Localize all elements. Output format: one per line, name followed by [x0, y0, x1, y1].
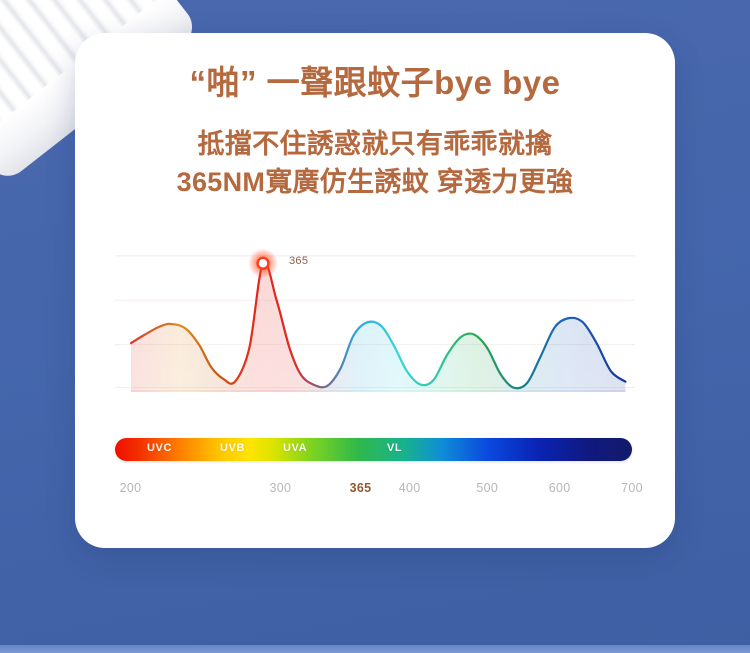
page-bottom-strip	[0, 645, 750, 653]
axis-tick-400: 400	[399, 481, 421, 495]
spectrum-color-bar: UVC UVB UVA VL	[115, 438, 632, 461]
chart-fade-overlay	[115, 240, 635, 390]
spectrum-chart: 365	[115, 240, 635, 410]
peak-dot	[259, 259, 267, 267]
axis-tick-365: 365	[350, 481, 372, 495]
headline-secondary-line2: 365NM寬廣仿生誘蚊 穿透力更強	[75, 163, 675, 201]
band-label-uvb: UVB	[220, 442, 245, 454]
headline-block: “啪” 一聲跟蚊子bye bye 抵擋不住誘惑就只有乖乖就擒 365NM寬廣仿生…	[75, 33, 675, 201]
promo-page: ⨯ ⏻ ◎ “啪” 一聲跟蚊子bye bye 抵擋不住誘惑就只有乖乖就擒 365…	[0, 0, 750, 653]
content-card: “啪” 一聲跟蚊子bye bye 抵擋不住誘惑就只有乖乖就擒 365NM寬廣仿生…	[75, 33, 675, 548]
peak-marker-365	[248, 248, 278, 278]
band-label-uva: UVA	[283, 442, 307, 454]
band-label-vl: VL	[387, 442, 402, 454]
band-label-uvc: UVC	[147, 442, 172, 454]
headline-secondary: 抵擋不住誘惑就只有乖乖就擒 365NM寬廣仿生誘蚊 穿透力更強	[75, 125, 675, 202]
headline-primary: “啪” 一聲跟蚊子bye bye	[75, 63, 675, 103]
axis-tick-300: 300	[270, 481, 292, 495]
axis-tick-700: 700	[621, 481, 643, 495]
axis-tick-500: 500	[476, 481, 498, 495]
axis-tick-600: 600	[549, 481, 571, 495]
axis-tick-200: 200	[120, 481, 142, 495]
headline-secondary-line1: 抵擋不住誘惑就只有乖乖就擒	[75, 125, 675, 163]
peak-value-label: 365	[289, 255, 308, 267]
wavelength-axis: 200300365400500600700800	[115, 481, 632, 501]
spectrum-chart-svg	[115, 240, 635, 410]
